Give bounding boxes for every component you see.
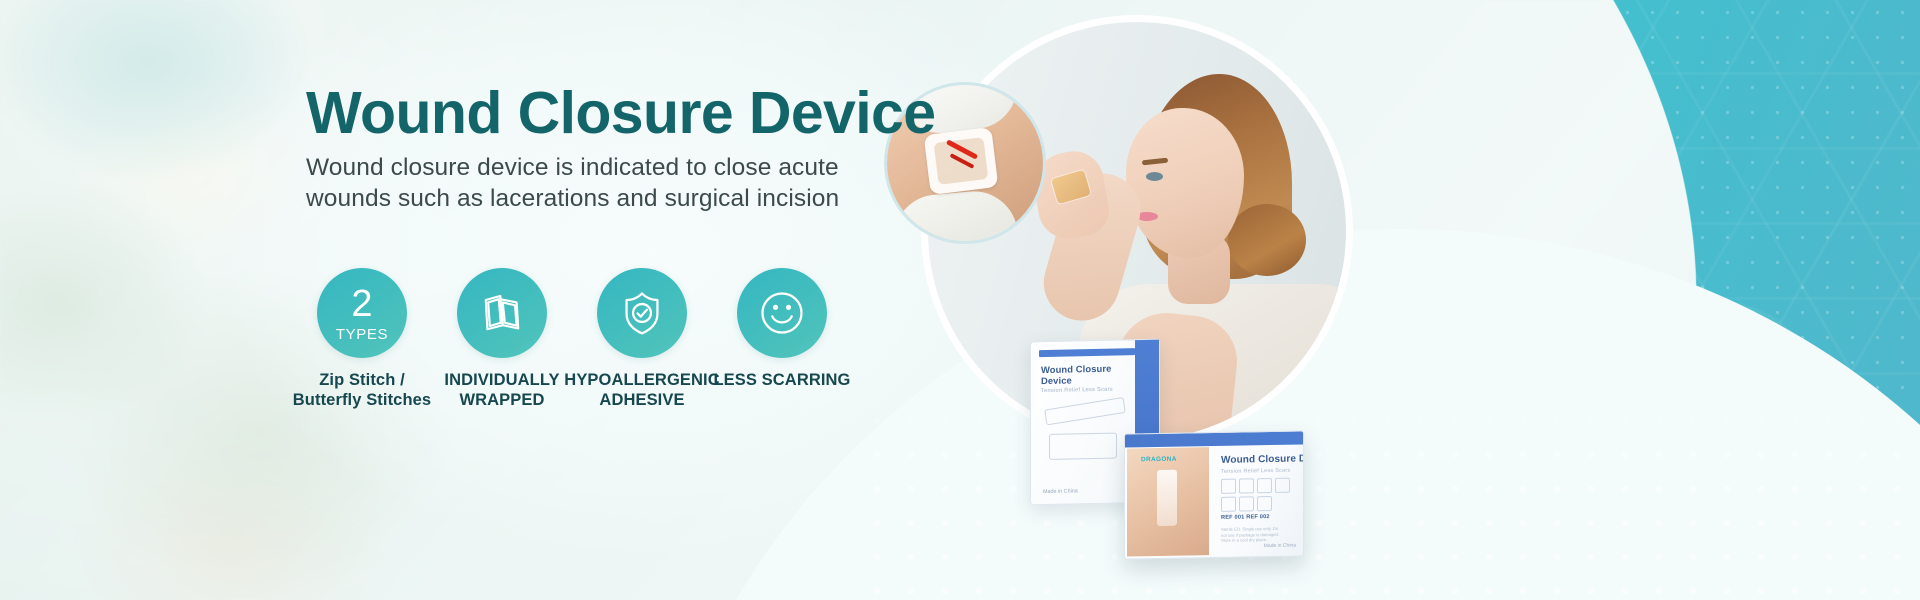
- feature-caption: HYPOALLERGENIC ADHESIVE: [564, 371, 719, 411]
- feature-individually-wrapped: INDIVIDUALLY WRAPPED: [432, 268, 572, 411]
- feature-two-types: 2 TYPES Zip Stitch / Butterfly Stitches: [292, 268, 432, 411]
- shield-check-icon: [597, 268, 687, 358]
- symbol-icon: [1221, 479, 1236, 494]
- product-hero-banner: Wound Closure Device Tension Relief Less…: [0, 0, 1920, 600]
- box-origin: Made in China: [1043, 488, 1078, 495]
- feature-less-scarring: LESS SCARRING: [712, 268, 852, 391]
- feature-caption-line1: INDIVIDUALLY: [444, 371, 559, 391]
- feature-caption-line2: ADHESIVE: [564, 391, 719, 411]
- box-fine-print: Sterile EO. Single use only. Do not use …: [1221, 526, 1279, 544]
- feature-caption-line2: Butterfly Stitches: [293, 391, 431, 411]
- model-eye: [1146, 172, 1163, 181]
- smiley-face-glyph: [756, 287, 808, 339]
- box-front-origin: Made in China: [1264, 543, 1296, 550]
- feature-caption: Zip Stitch / Butterfly Stitches: [293, 371, 431, 411]
- subtitle-line-2: wounds such as lacerations and surgical …: [306, 183, 866, 214]
- individually-wrapped-icon: [457, 268, 547, 358]
- two-types-icon: 2 TYPES: [317, 268, 407, 358]
- brand-logo: DRAGONA: [1141, 456, 1177, 464]
- symbol-icon: [1221, 497, 1236, 512]
- box-title: Wound Closure Device: [1041, 362, 1125, 386]
- shield-check-glyph: [616, 287, 668, 339]
- box-symbol-grid: [1221, 478, 1297, 512]
- symbol-icon: [1239, 496, 1254, 511]
- feature-caption-line2: WRAPPED: [444, 391, 559, 411]
- page-subtitle: Wound closure device is indicated to clo…: [306, 152, 866, 215]
- box-subtitle: Tension Relief Less Scars: [1041, 386, 1131, 394]
- badge-label: TYPES: [336, 327, 388, 342]
- feature-caption: LESS SCARRING: [714, 371, 851, 391]
- symbol-icon: [1275, 478, 1290, 493]
- feature-list: 2 TYPES Zip Stitch / Butterfly Stitches …: [292, 268, 852, 411]
- subtitle-line-1: Wound closure device is indicated to clo…: [306, 152, 866, 183]
- feature-caption: INDIVIDUALLY WRAPPED: [444, 371, 559, 411]
- box-front-subtitle: Tension Relief Less Scars: [1221, 468, 1291, 475]
- symbol-icon: [1257, 478, 1272, 493]
- product-box-wide: DRAGONA Wound Closure Device Tension Rel…: [1124, 430, 1304, 559]
- box-diagram-butterfly: [1049, 433, 1117, 460]
- model-hair-bun: [1228, 204, 1306, 276]
- symbol-icon: [1239, 478, 1254, 493]
- box-front-title: Wound Closure Device: [1221, 453, 1304, 466]
- feature-caption-line1: LESS SCARRING: [714, 371, 851, 391]
- feature-hypoallergenic-adhesive: HYPOALLERGENIC ADHESIVE: [572, 268, 712, 411]
- box-front-photo: [1127, 447, 1209, 556]
- feature-caption-line1: Zip Stitch /: [293, 371, 431, 391]
- sachet-pair-glyph: [476, 287, 528, 339]
- box-top-bar: [1039, 348, 1135, 357]
- badge-number: 2: [351, 286, 372, 322]
- feature-caption-line1: HYPOALLERGENIC: [564, 371, 719, 391]
- page-title: Wound Closure Device: [306, 83, 935, 145]
- symbol-icon: [1257, 496, 1272, 511]
- box-title-line2: Device: [1041, 373, 1125, 386]
- smiley-face-icon: [737, 268, 827, 358]
- box-reference-numbers: REF 001 REF 002: [1221, 514, 1270, 521]
- box-diagram-zip: [1044, 397, 1125, 426]
- box-front-top-bar: [1125, 431, 1303, 447]
